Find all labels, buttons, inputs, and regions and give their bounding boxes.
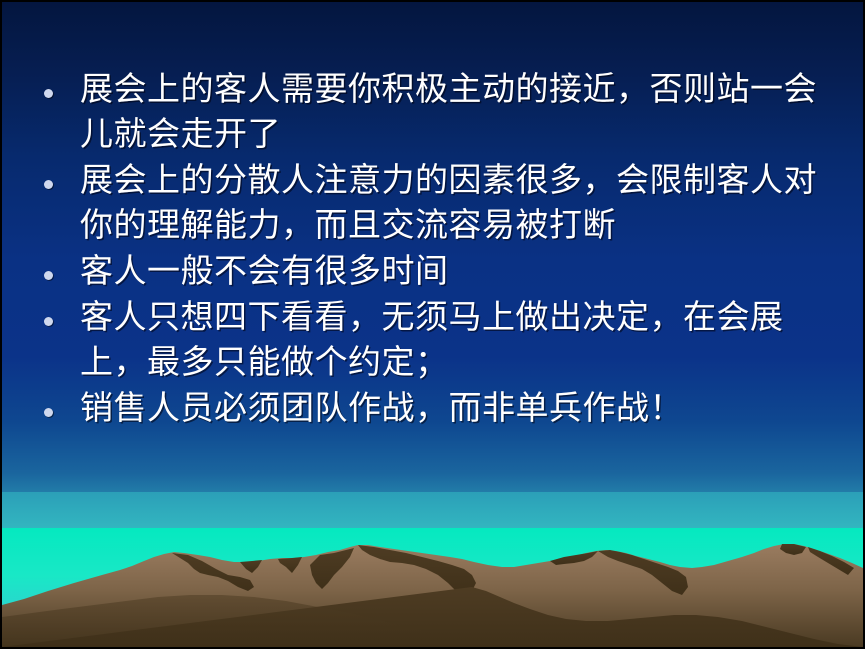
bullet-item-3: 客人一般不会有很多时间 [44,248,834,293]
bullet-text-5: 销售人员必须团队作战，而非单兵作战！ [80,385,834,430]
bullet-item-2: 展会上的分散人注意力的因素很多，会限制客人对你的理解能力，而且交流容易被打断 [44,157,834,247]
bullet-text-3: 客人一般不会有很多时间 [80,248,834,293]
bullet-item-1: 展会上的客人需要你积极主动的接近，否则站一会儿就会走开了 [44,66,834,156]
bullet-text-4: 客人只想四下看看，无须马上做出决定，在会展上，最多只能做个约定； [80,294,834,384]
bullet-point-icon [44,294,80,330]
bullet-point-icon [44,66,80,102]
bullet-point-icon [44,248,80,284]
slide-body-text: 展会上的客人需要你积极主动的接近，否则站一会儿就会走开了 展会上的分散人注意力的… [44,66,834,431]
bullet-text-1: 展会上的客人需要你积极主动的接近，否则站一会儿就会走开了 [80,66,834,156]
mountain-silhouette-graphic [2,517,863,647]
bullet-point-icon [44,157,80,193]
presentation-slide: 展会上的客人需要你积极主动的接近，否则站一会儿就会走开了 展会上的分散人注意力的… [0,0,865,649]
bullet-point-icon [44,385,80,421]
bullet-text-2: 展会上的分散人注意力的因素很多，会限制客人对你的理解能力，而且交流容易被打断 [80,157,834,247]
bullet-item-4: 客人只想四下看看，无须马上做出决定，在会展上，最多只能做个约定； [44,294,834,384]
bullet-item-5: 销售人员必须团队作战，而非单兵作战！ [44,385,834,430]
